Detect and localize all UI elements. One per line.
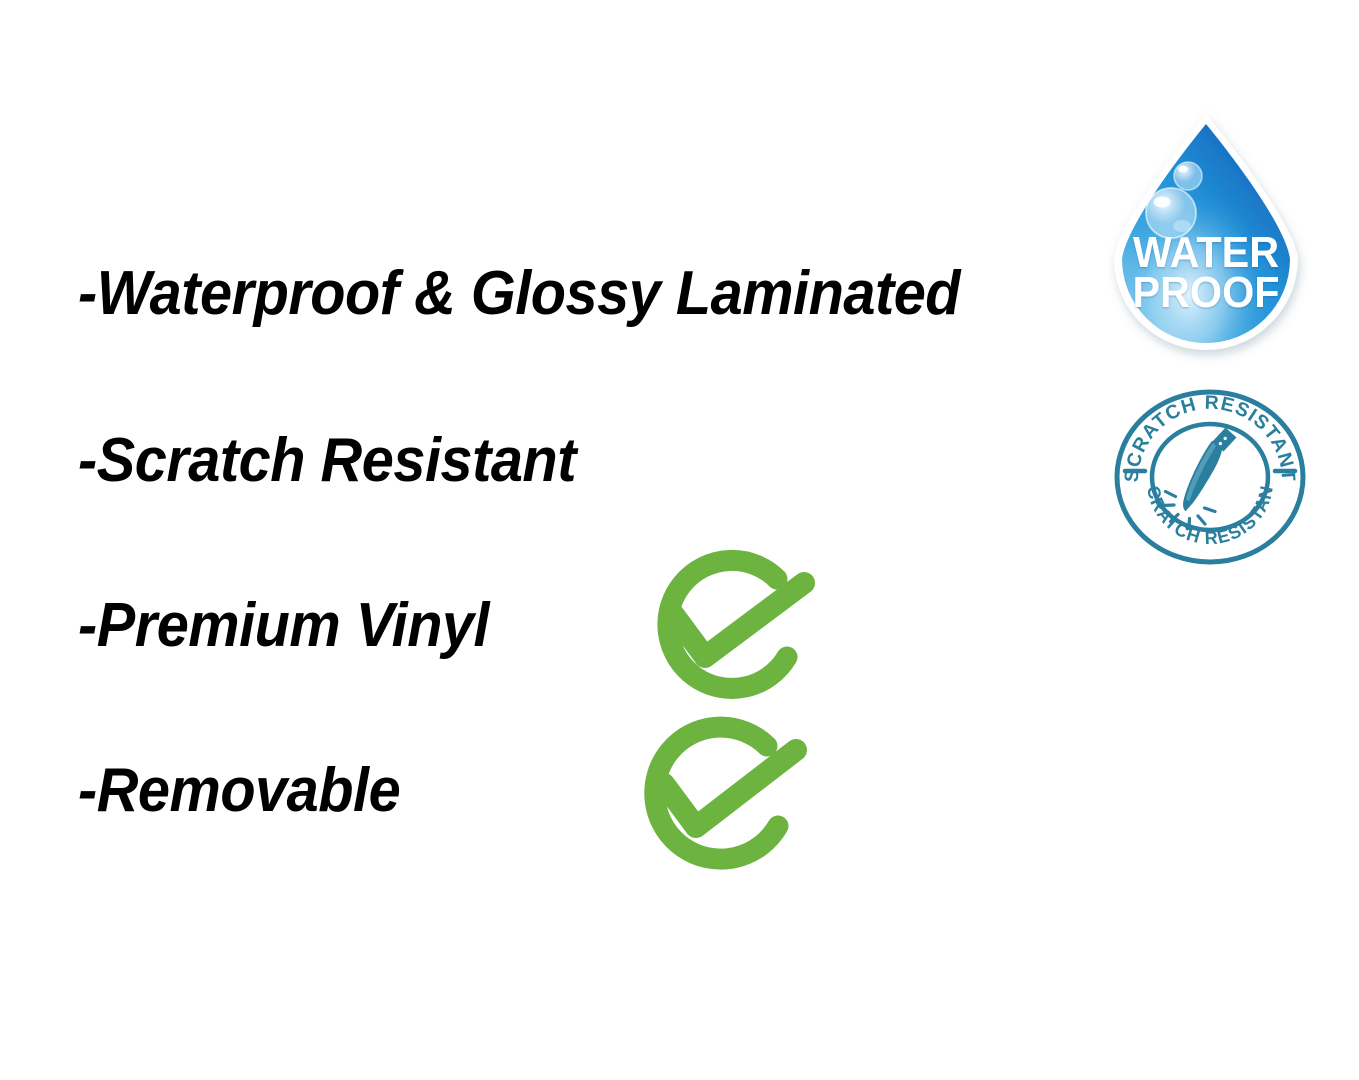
knife-seal-icon: SCRATCH RESISTANT SCRATCH RESISTANT [1112,385,1308,565]
bubble-icon-large [1146,188,1196,238]
water-drop-icon [1096,108,1316,370]
feature-item-scratch-resistant: -Scratch Resistant [78,430,576,492]
check-circle-icon [636,553,836,715]
knife-icon [1183,428,1236,512]
feature-item-premium-vinyl: -Premium Vinyl [78,595,489,657]
drop-shape [1114,114,1298,350]
check-circle-icon [626,718,826,886]
check-tick [674,583,804,657]
feature-item-waterproof: -Waterproof & Glossy Laminated [78,263,960,325]
checkmark-premium-vinyl [636,553,836,715]
feature-list: -Waterproof & Glossy Laminated -Scratch … [0,0,1100,1080]
waterproof-badge: WATER PROOF [1096,108,1316,370]
infographic-canvas: -Waterproof & Glossy Laminated -Scratch … [0,0,1359,1080]
feature-item-removable: -Removable [78,760,400,822]
checkmark-removable [626,718,826,886]
check-tick [664,750,796,827]
scratch-resistant-badge: SCRATCH RESISTANT SCRATCH RESISTANT [1112,385,1308,565]
bubble-icon-small [1174,162,1202,190]
